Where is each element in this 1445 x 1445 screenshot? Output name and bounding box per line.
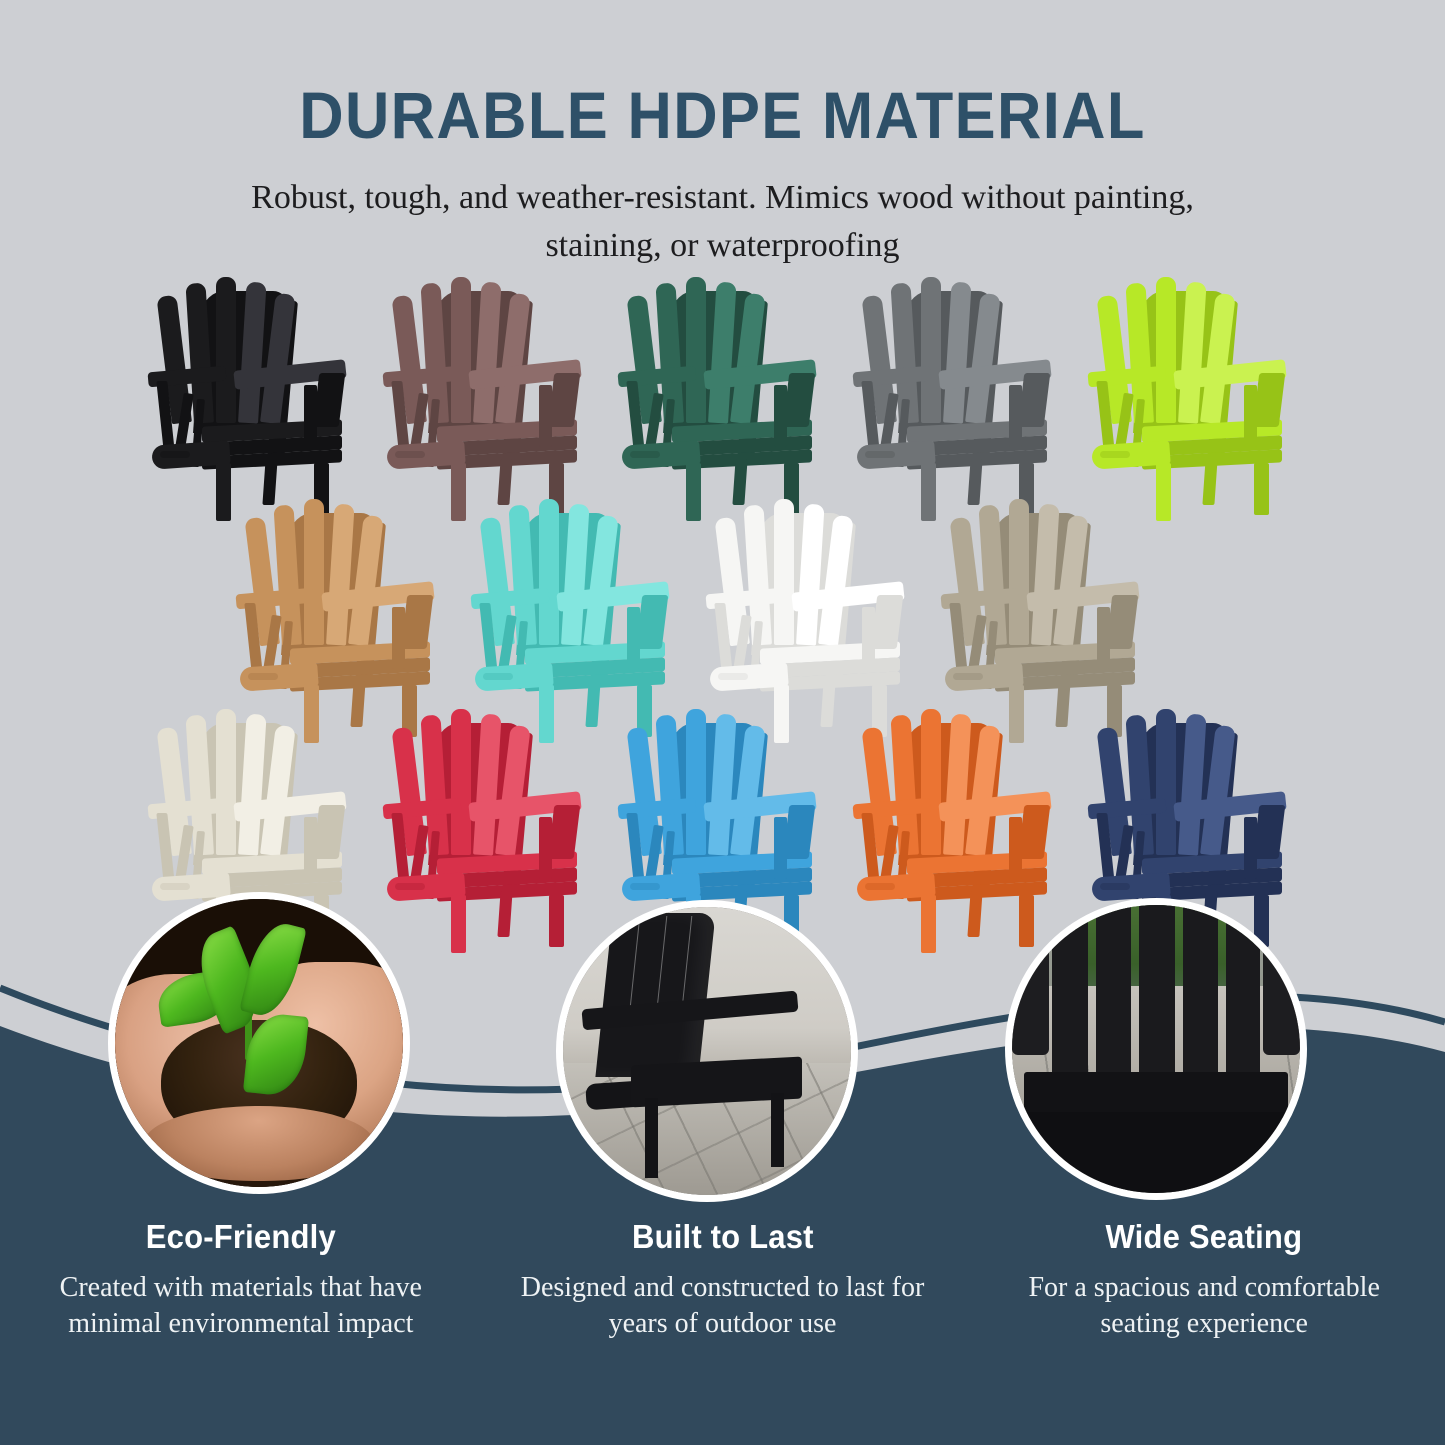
seatback-seat-rail [1024, 1072, 1289, 1118]
feature-wide-seating: Wide Seating For a spacious and comforta… [963, 1218, 1445, 1343]
chair-rear-leg-photo [771, 1093, 784, 1167]
chair-color-grid [0, 265, 1445, 915]
chair-foot-notch [160, 883, 190, 890]
chair-arm-right-support [1097, 607, 1110, 669]
chair-back-slat [304, 499, 324, 645]
chair-back-slat [921, 709, 941, 855]
chair-foot-notch [160, 451, 190, 458]
chair-back-slat [774, 499, 794, 645]
chair-foot-notch [1100, 883, 1130, 890]
chair-back-slat [539, 499, 559, 645]
chair-arm-right-support [539, 385, 552, 447]
photo-eco-friendly [108, 892, 410, 1194]
feature-title: Built to Last [509, 1218, 935, 1256]
chair-foot-notch [395, 883, 425, 890]
feature-description: For a spacious and comfortable seating e… [989, 1270, 1419, 1343]
chair-foot-notch [630, 451, 660, 458]
chair-arm-right-support [1009, 385, 1022, 447]
chair-row-2 [0, 487, 1445, 717]
seatback-arm-right [1263, 922, 1300, 1054]
feature-description: Created with materials that have minimal… [26, 1270, 456, 1343]
chair-back-slat [1156, 709, 1176, 855]
chair-foot-notch [1100, 451, 1130, 458]
feature-list: Eco-Friendly Created with materials that… [0, 1218, 1445, 1343]
back-slat-line [629, 916, 641, 1011]
chair-cell-white [698, 487, 933, 717]
back-slat-line [656, 916, 668, 1011]
photo-wide-seating [1005, 898, 1307, 1200]
page-title: DURABLE HDPE MATERIAL [51, 0, 1395, 148]
chair-cell-brown [375, 265, 610, 495]
chair-foot-notch [865, 883, 895, 890]
patio-photo-content [563, 907, 851, 1195]
chair-white [712, 495, 912, 713]
infographic-canvas: DURABLE HDPE MATERIAL Robust, tough, and… [0, 0, 1445, 1445]
seatback-slat [1139, 898, 1174, 1084]
chair-black [154, 273, 354, 491]
chair-foot-notch [865, 451, 895, 458]
photo-built-to-last [556, 900, 858, 1202]
chair-cell-taupe [933, 487, 1168, 717]
chair-back-photo [596, 913, 717, 1077]
chair-cell-teak [228, 487, 463, 717]
feature-photos [0, 890, 1445, 1220]
seatback-slat-group [1052, 898, 1259, 1084]
seatback-slat [1096, 898, 1131, 1084]
chair-back-slat [451, 277, 471, 423]
chair-gray [859, 273, 1059, 491]
chair-back-slat [686, 709, 706, 855]
fingers [144, 1106, 374, 1181]
chair-front-leg-photo [645, 1098, 658, 1177]
chair-dark-green [624, 273, 824, 491]
feature-built-to-last: Built to Last Designed and constructed t… [482, 1218, 964, 1343]
feature-title: Wide Seating [991, 1218, 1417, 1256]
chair-taupe [947, 495, 1147, 713]
chair-cell-gray [845, 265, 1080, 495]
seatback-photo-content [1012, 905, 1300, 1193]
chair-arm-right-support [304, 817, 317, 879]
chair-arm-right-support [774, 385, 787, 447]
chair-arm-right-support [862, 607, 875, 669]
chair-arm-right-support [1244, 817, 1257, 879]
chair-arm-right-support [539, 817, 552, 879]
chair-arm-right-support [627, 607, 640, 669]
chair-foot-notch [953, 673, 983, 680]
chair-foot-notch [718, 673, 748, 680]
chair-back-slat [686, 277, 706, 423]
back-slat-line [681, 916, 693, 1011]
chair-foot-notch [248, 673, 278, 680]
seatback-slat [1183, 898, 1218, 1084]
chair-back-slat [1156, 277, 1176, 423]
header: DURABLE HDPE MATERIAL Robust, tough, and… [0, 0, 1445, 271]
chair-teak [242, 495, 442, 713]
chair-cell-lime [1080, 265, 1315, 495]
feature-description: Designed and constructed to last for yea… [508, 1270, 938, 1343]
seatback-slat [1052, 898, 1087, 1084]
chair-turquoise [477, 495, 677, 713]
chair-cell-black [140, 265, 375, 495]
chair-arm-right-support [1009, 817, 1022, 879]
chair-arm-right-support [1244, 385, 1257, 447]
chair-back-slat [451, 709, 471, 855]
chair-arm-right-support [774, 817, 787, 879]
chair-back-slat [216, 277, 236, 423]
seatback-lower-body [1012, 1112, 1300, 1193]
chair-arm-right-support [392, 607, 405, 669]
chair-foot-notch [483, 673, 513, 680]
eco-photo-content [115, 899, 403, 1187]
black-chair-photo [577, 913, 802, 1178]
chair-back-slat [1009, 499, 1029, 645]
page-subtitle: Robust, tough, and weather-resistant. Mi… [223, 148, 1223, 271]
feature-title: Eco-Friendly [28, 1218, 454, 1256]
feature-eco-friendly: Eco-Friendly Created with materials that… [0, 1218, 482, 1343]
chair-lime [1094, 273, 1294, 491]
seatback-arm-left [1012, 922, 1049, 1054]
chair-cell-turquoise [463, 487, 698, 717]
chair-back-slat [921, 277, 941, 423]
chair-foot-notch [630, 883, 660, 890]
chair-row-1 [0, 265, 1445, 495]
chair-foot-notch [395, 451, 425, 458]
chair-arm-right-support [304, 385, 317, 447]
chair-cell-dark-green [610, 265, 845, 495]
chair-back-slat [216, 709, 236, 855]
chair-brown [389, 273, 589, 491]
seatback-slat [1226, 898, 1259, 1084]
